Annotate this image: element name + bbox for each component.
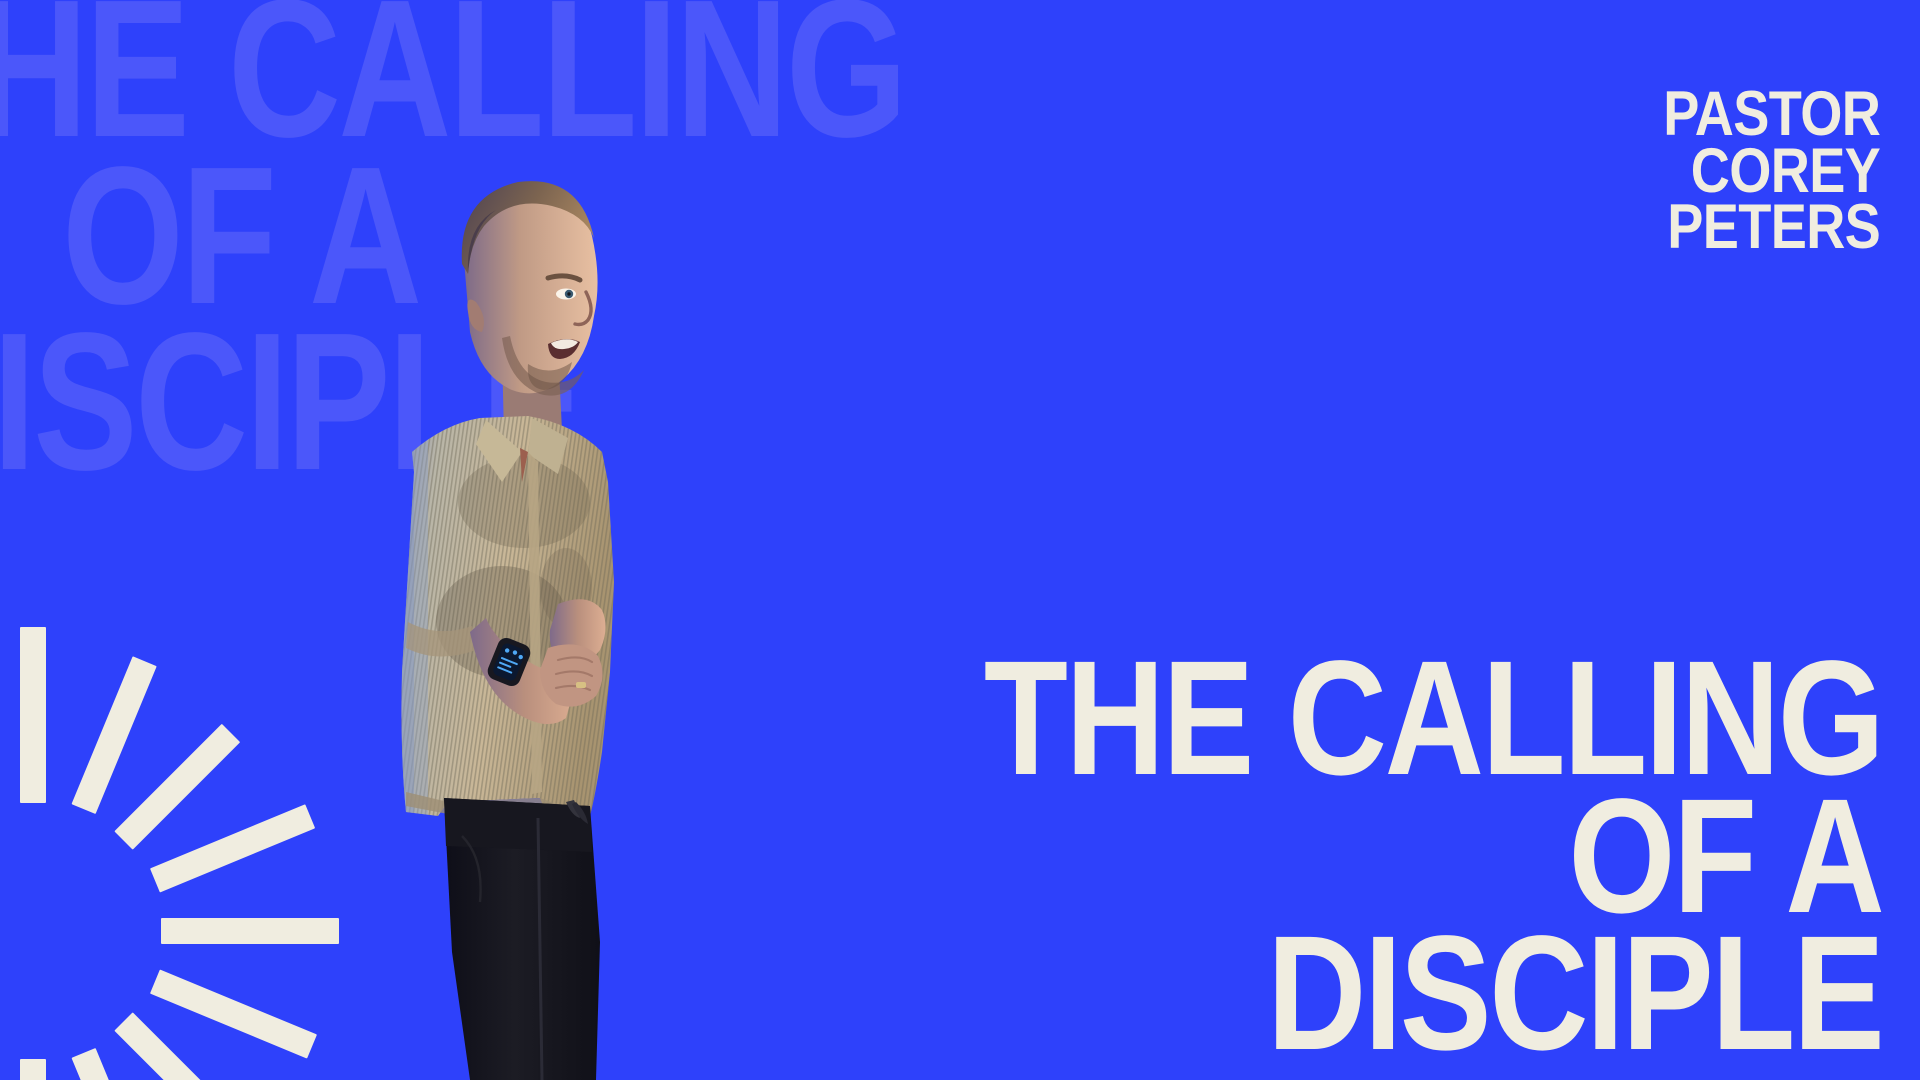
speaker-line-3: PETERS xyxy=(1663,199,1880,256)
watermark-line-1: THE CALLING xyxy=(0,0,778,153)
shirt xyxy=(392,402,632,832)
smartwatch-icon xyxy=(485,635,533,689)
speaker-name: PASTOR COREY PETERS xyxy=(1628,86,1880,256)
watermark-headline: THE CALLING OF A DISCIPLE xyxy=(0,0,1002,486)
starburst-icon xyxy=(0,606,358,1080)
arms xyxy=(470,599,606,724)
microphone-icon xyxy=(568,504,596,656)
trousers xyxy=(444,798,600,1080)
sermon-title-slide: THE CALLING OF A DISCIPLE xyxy=(0,0,1920,1080)
sermon-title: THE CALLING OF A DISCIPLE xyxy=(819,649,1882,1062)
watermark-line-2: OF A xyxy=(62,153,814,320)
head xyxy=(462,181,598,395)
speaker-line-2: COREY xyxy=(1663,143,1880,200)
speaker-photo xyxy=(352,152,662,1080)
speaker-line-1: PASTOR xyxy=(1663,86,1880,143)
title-line-3: DISCIPLE xyxy=(983,924,1882,1062)
watermark-line-3: DISCIPLE xyxy=(0,319,778,486)
